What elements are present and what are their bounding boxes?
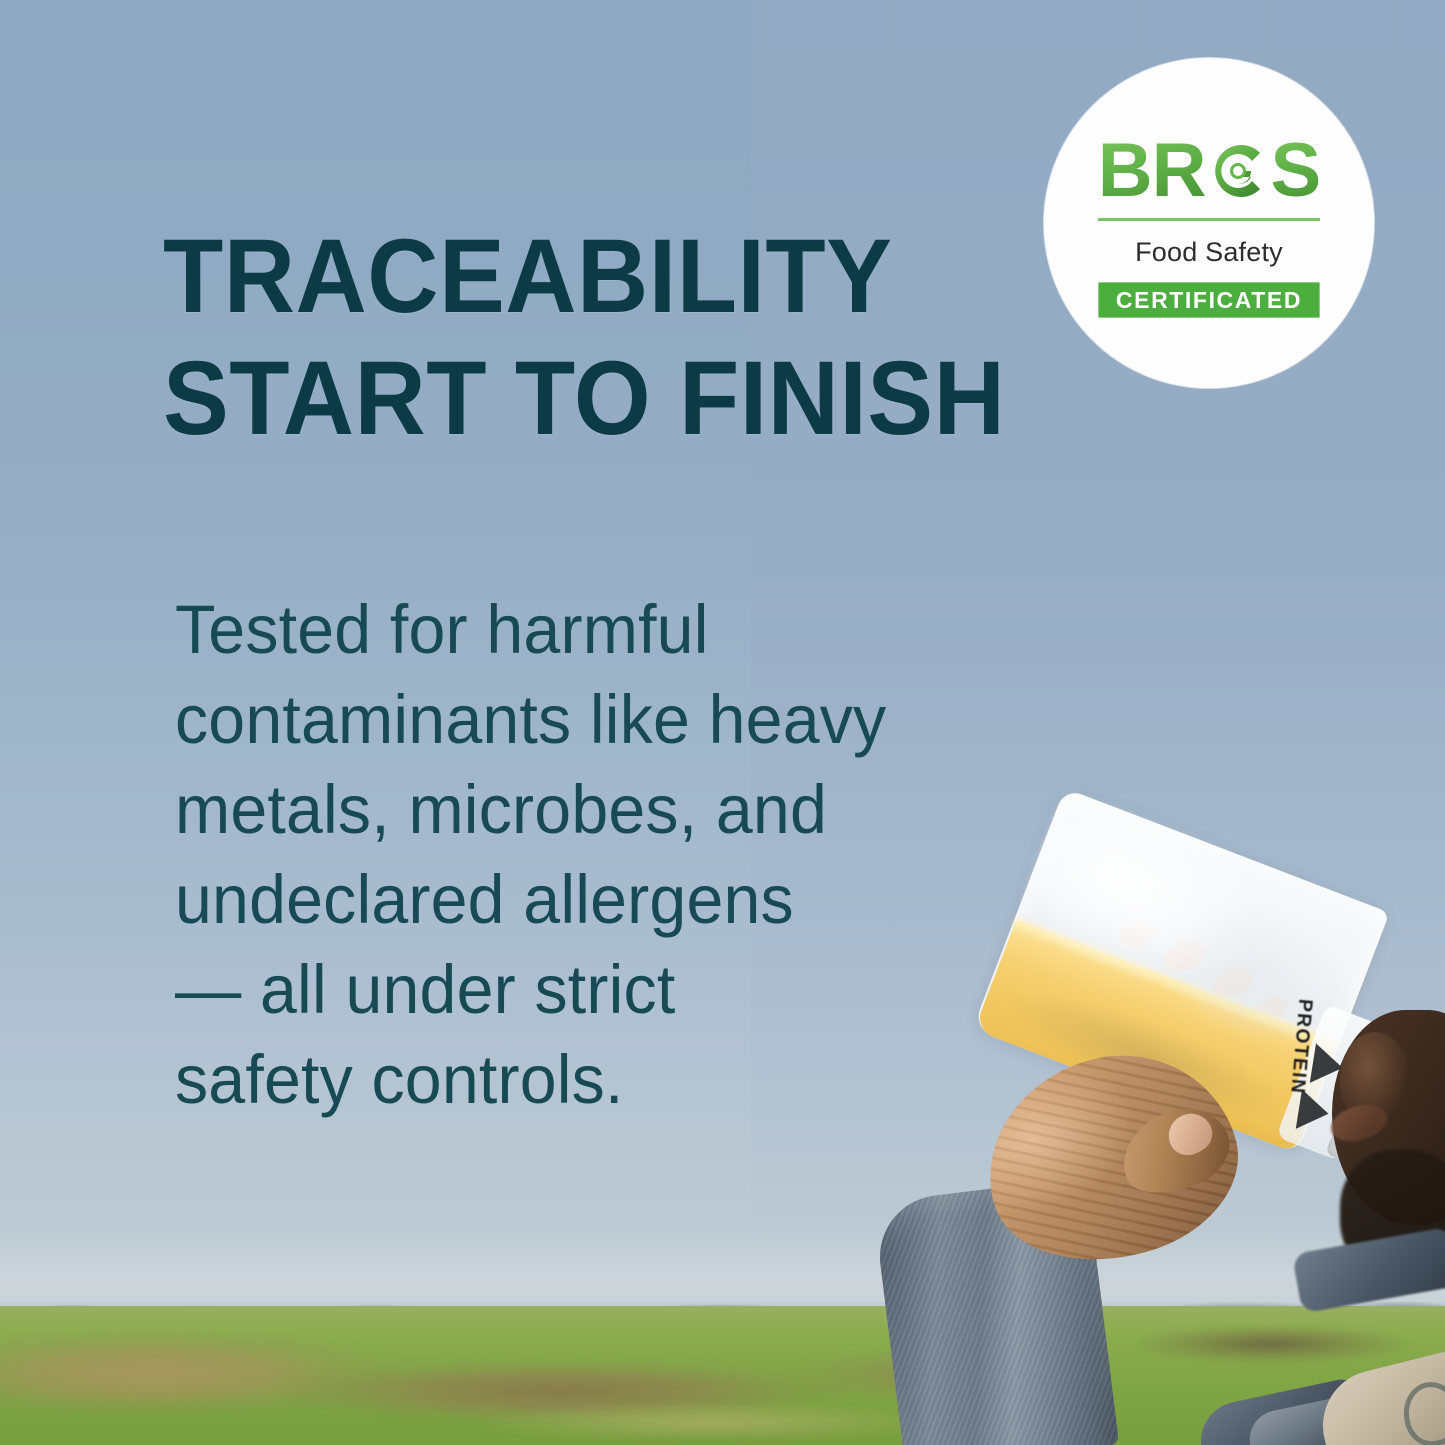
body-line-1: Tested for harmful xyxy=(175,585,972,675)
body-line-5: — all under strict xyxy=(175,945,972,1035)
dry-grass-patch-far-right xyxy=(1140,1322,1430,1366)
page-title: TRACEABILITY START TO FINISH xyxy=(163,216,1028,460)
brcgs-wordmark: BR xyxy=(1098,134,1320,208)
brcgs-certification-badge: BR xyxy=(1044,58,1374,388)
status-badge: CERTIFICATED xyxy=(1098,282,1320,318)
brcgs-letters-suffix: S xyxy=(1271,134,1321,208)
brcgs-letters-prefix: BR xyxy=(1098,134,1206,208)
body-line-2: contaminants like heavy xyxy=(175,675,972,765)
brcgs-g-in-c-icon xyxy=(1203,136,1273,206)
headline-line-1: TRACEABILITY xyxy=(163,216,1028,338)
badge-divider xyxy=(1098,218,1320,221)
body-line-4: undeclared allergens xyxy=(175,855,972,945)
body-line-6: safety controls. xyxy=(175,1035,972,1125)
status-badge-label: CERTIFICATED xyxy=(1116,287,1302,314)
body-paragraph: Tested for harmful contaminants like hea… xyxy=(175,585,972,1125)
headline-line-2: START TO FINISH xyxy=(163,338,1028,460)
promo-graphic-canvas: PROTEIN TRACEABILITY START TO FINISH Tes… xyxy=(0,0,1445,1445)
badge-scheme-label: Food Safety xyxy=(1135,237,1283,268)
body-line-3: metals, microbes, and xyxy=(175,765,972,855)
